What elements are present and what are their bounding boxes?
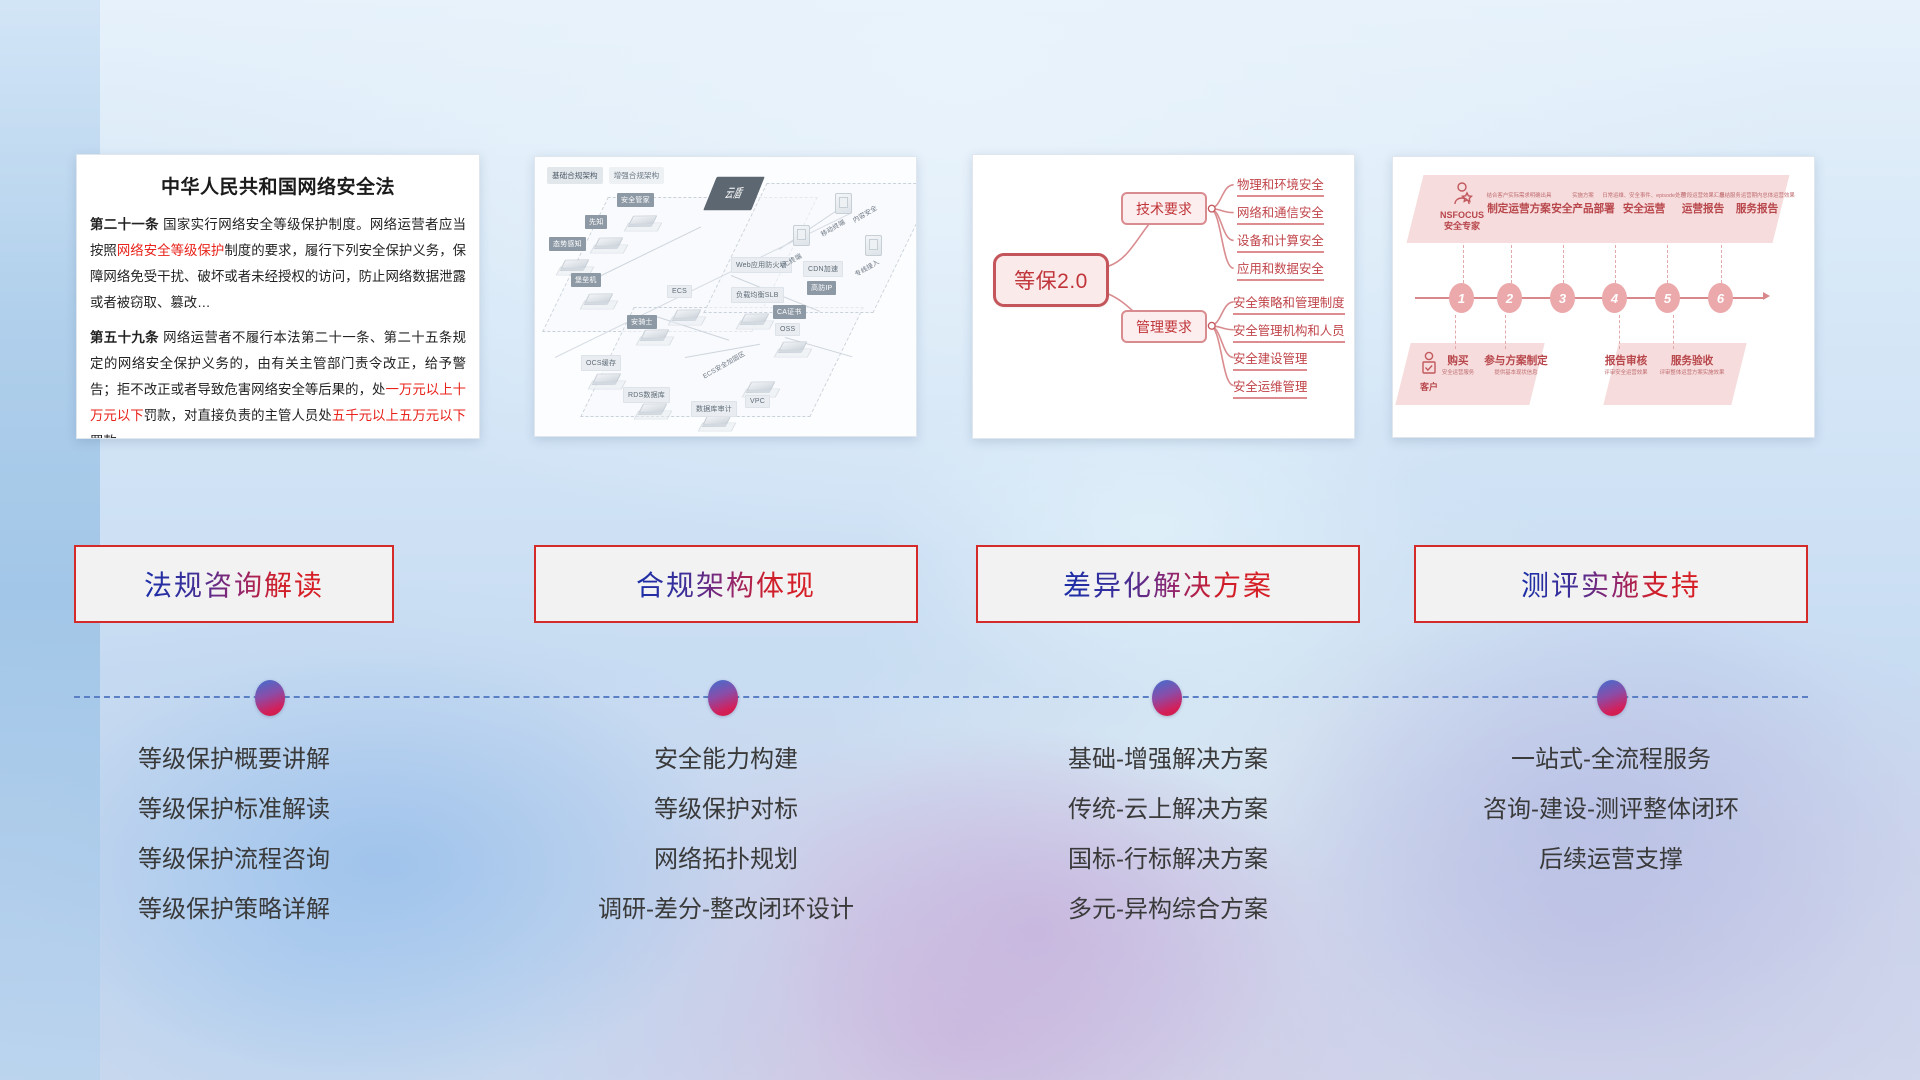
- banner-differentiated-solution-label: 差异化解决方案: [1063, 564, 1273, 604]
- timeline-dot-3: [1152, 680, 1182, 716]
- banner-regulation-consulting-label: 法规咨询解读: [144, 564, 324, 604]
- banner-compliance-architecture[interactable]: 合规架构体现: [534, 545, 918, 623]
- nsfocus-axis-arrow-icon: [1763, 292, 1770, 300]
- nsfocus-role-customer-label: 客户: [1407, 382, 1451, 393]
- law-body: 第二十一条 国家实行网络安全等级保护制度。网络运营者应当按照网络安全等级保护制度…: [77, 212, 479, 439]
- law-article-21-label: 第二十一条: [90, 217, 159, 232]
- banner-differentiated-solution[interactable]: 差异化解决方案: [976, 545, 1360, 623]
- nsfocus-connector-c1: [1455, 315, 1456, 349]
- list-item: 国标-行标解决方案: [976, 835, 1360, 885]
- nsfocus-role-expert-line2: 安全专家: [1427, 221, 1497, 232]
- cards-row: 中华人民共和国网络安全法 第二十一条 国家实行网络安全等级保护制度。网络运营者应…: [0, 150, 1920, 440]
- architecture-tag-bastion-host: 堡垒机: [571, 273, 601, 287]
- card-mindmap-dengbao[interactable]: 等保2.0 技术要求 管理要求 物理和环境安全 网络和通信安全 设备和计算安全 …: [972, 154, 1355, 439]
- list-item: 基础-增强解决方案: [976, 735, 1360, 785]
- mindmap-leaf-application-data: 应用和数据安全: [1237, 259, 1324, 281]
- list-item: 等级保护对标: [534, 785, 918, 835]
- list-regulation-consulting: 等级保护概要讲解 等级保护标准解读 等级保护流程咨询 等级保护策略详解: [74, 735, 394, 935]
- nsfocus-dot-6: 6: [1708, 283, 1733, 313]
- mindmap: 等保2.0 技术要求 管理要求 物理和环境安全 网络和通信安全 设备和计算安全 …: [973, 155, 1354, 438]
- architecture-tag-anqishi: 安骑士: [627, 315, 657, 329]
- architecture-node-xianzhi: [597, 231, 623, 251]
- nsfocus-connector-1: [1463, 245, 1464, 283]
- list-item: 传统-云上解决方案: [976, 785, 1360, 835]
- lists-row: 等级保护概要讲解 等级保护标准解读 等级保护流程咨询 等级保护策略详解 安全能力…: [0, 735, 1920, 955]
- nsfocus-step-6-title: 服务报告: [1705, 201, 1809, 216]
- law-article-21: 第二十一条 国家实行网络安全等级保护制度。网络运营者应当按照网络安全等级保护制度…: [90, 212, 466, 316]
- architecture-node-situation-awareness: [563, 253, 589, 273]
- mindmap-branch-technical: 技术要求: [1121, 192, 1207, 225]
- nsfocus-connector-5: [1667, 245, 1668, 283]
- architecture-node-oss: [781, 335, 807, 355]
- mindmap-leaf-policy-system: 安全策略和管理制度: [1233, 293, 1345, 315]
- architecture-tag-situation-awareness: 态势感知: [549, 237, 586, 251]
- nsfocus-customer-step-2-title: 参与方案制定: [1479, 353, 1553, 368]
- timeline-dashed-line: [74, 696, 1808, 698]
- law-article-59-label: 第五十九条: [90, 330, 159, 345]
- law-article-59-text-3: 罚款。: [90, 434, 130, 439]
- architecture-tag-slb: 负载均衡SLB: [731, 287, 784, 303]
- nsfocus-dot-4: 4: [1602, 283, 1627, 313]
- nsfocus-customer-step-4-sub: 评审整体运营方案实施效果: [1649, 368, 1735, 376]
- list-item: 等级保护概要讲解: [74, 735, 394, 785]
- nsfocus-customer-step-4: 服务验收 评审整体运营方案实施效果: [1649, 353, 1735, 378]
- architecture-node-ecs: [675, 303, 701, 323]
- architecture-tag-security-steward: 安全管家: [617, 193, 654, 207]
- nsfocus-customer-step-2-sub: 提供基本现状信息: [1479, 368, 1553, 376]
- expert-person-icon: [1451, 181, 1473, 205]
- architecture-tag-ca-cert: CA证书: [773, 305, 806, 319]
- nsfocus-connector-c3: [1619, 315, 1620, 349]
- architecture-node-vpc: [749, 375, 775, 395]
- mindmap-root: 等保2.0: [993, 253, 1109, 307]
- nsfocus-customer-step-4-title: 服务验收: [1649, 353, 1735, 368]
- architecture-tag-anti-ddos: 高防IP: [807, 281, 836, 295]
- mindmap-leaf-construction-mgmt: 安全建设管理: [1233, 349, 1307, 371]
- banner-evaluation-support[interactable]: 测评实施支持: [1414, 545, 1808, 623]
- nsfocus-connector-2: [1511, 245, 1512, 283]
- list-item: 调研-差分-整改闭环设计: [534, 885, 918, 935]
- mindmap-leaf-org-personnel: 安全管理机构和人员: [1233, 321, 1345, 343]
- nsfocus-customer-step-2: 参与方案制定 提供基本现状信息: [1479, 353, 1553, 378]
- list-item: 后续运营支撑: [1414, 835, 1808, 885]
- architecture-diagram: 基础合规架构 增强合规架构 云盾 态势感知 先知 安全管: [535, 157, 916, 436]
- banner-row: 法规咨询解读 合规架构体现 差异化解决方案 测评实施支持: [0, 545, 1920, 645]
- architecture-tag-ocs-cache: OCS缓存: [581, 355, 621, 371]
- law-article-59: 第五十九条 网络运营者不履行本法第二十一条、第二十五条规定的网络安全保护义务的，…: [90, 325, 466, 439]
- banner-evaluation-support-label: 测评实施支持: [1521, 564, 1701, 604]
- architecture-terminal-mobile: [835, 193, 852, 214]
- nsfocus-dot-3: 3: [1550, 283, 1575, 313]
- law-article-59-text-2: 罚款，对直接负责的主管人员处: [144, 408, 332, 423]
- list-item: 等级保护标准解读: [74, 785, 394, 835]
- law-article-59-highlight-2: 五千元以上五万元以下: [332, 408, 466, 423]
- list-item: 等级保护流程咨询: [74, 835, 394, 885]
- list-item: 多元-异构综合方案: [976, 885, 1360, 935]
- list-item: 安全能力构建: [534, 735, 918, 785]
- architecture-tag-xianzhi: 先知: [585, 215, 607, 229]
- banner-regulation-consulting[interactable]: 法规咨询解读: [74, 545, 394, 623]
- card-cloud-architecture[interactable]: 基础合规架构 增强合规架构 云盾 态势感知 先知 安全管: [534, 156, 917, 437]
- architecture-tag-ecs: ECS: [667, 285, 692, 298]
- architecture-node-slb: [743, 307, 769, 327]
- card-cybersecurity-law[interactable]: 中华人民共和国网络安全法 第二十一条 国家实行网络安全等级保护制度。网络运营者应…: [76, 154, 480, 439]
- tab-basic-architecture[interactable]: 基础合规架构: [547, 167, 603, 184]
- mindmap-leaf-device-computing: 设备和计算安全: [1237, 231, 1324, 253]
- list-item: 咨询-建设-测评整体闭环: [1414, 785, 1808, 835]
- architecture-node-bastion-host: [587, 287, 613, 307]
- list-compliance-architecture: 安全能力构建 等级保护对标 网络拓扑规划 调研-差分-整改闭环设计: [534, 735, 918, 935]
- timeline-row: [0, 680, 1920, 720]
- list-item: 网络拓扑规划: [534, 835, 918, 885]
- nsfocus-customer-step-1-title: 购买: [1433, 353, 1483, 368]
- mindmap-branch-management: 管理要求: [1121, 310, 1207, 343]
- architecture-tag-vpc: VPC: [745, 395, 770, 408]
- list-evaluation-support: 一站式-全流程服务 咨询-建设-测评整体闭环 后续运营支撑: [1414, 735, 1808, 885]
- mindmap-leaf-operation-mgmt: 安全运维管理: [1233, 377, 1307, 399]
- timeline-dot-4: [1597, 680, 1627, 716]
- nsfocus-dot-5: 5: [1655, 283, 1680, 313]
- law-article-21-highlight: 网络安全等级保护: [117, 243, 224, 258]
- architecture-terminal-leased-line: [865, 235, 882, 256]
- architecture-tag-db-audit: 数据库审计: [691, 401, 737, 417]
- banner-compliance-architecture-label: 合规架构体现: [636, 564, 816, 604]
- list-item: 一站式-全流程服务: [1414, 735, 1808, 785]
- nsfocus-dot-1: 1: [1449, 283, 1474, 313]
- architecture-tag-oss: OSS: [775, 323, 800, 336]
- nsfocus-connector-4: [1615, 245, 1616, 283]
- timeline-dot-1: [255, 680, 285, 716]
- nsfocus-connector-c4: [1673, 315, 1674, 349]
- nsfocus-connector-6: [1721, 245, 1722, 283]
- law-title: 中华人民共和国网络安全法: [77, 172, 479, 199]
- nsfocus-connector-c2: [1505, 315, 1506, 349]
- nsfocus-timeline: NSFOCUS 安全专家 结合客户实际需求明确出具 制定运营方案 实施方案 安全…: [1393, 157, 1814, 437]
- nsfocus-step-6-sub: 总结服务运营期内总体运营效果: [1705, 191, 1809, 199]
- architecture-tag-cdn: CDN加速: [803, 261, 843, 277]
- nsfocus-dot-2: 2: [1497, 283, 1522, 313]
- mindmap-leaf-network-communication: 网络和通信安全: [1237, 203, 1324, 225]
- list-item: 等级保护策略详解: [74, 885, 394, 935]
- architecture-terminal-pc: [793, 225, 810, 246]
- architecture-tag-rds: RDS数据库: [623, 387, 670, 403]
- tab-enhanced-architecture[interactable]: 增强合规架构: [609, 167, 665, 184]
- nsfocus-customer-step-1-sub: 安全运营服务: [1433, 368, 1483, 376]
- nsfocus-step-6: 总结服务运营期内总体运营效果 服务报告: [1705, 191, 1809, 216]
- timeline-dot-2: [708, 680, 738, 716]
- architecture-node-security-steward: [631, 209, 657, 229]
- architecture-tabs[interactable]: 基础合规架构 增强合规架构: [547, 167, 664, 184]
- card-nsfocus-timeline[interactable]: NSFOCUS 安全专家 结合客户实际需求明确出具 制定运营方案 实施方案 安全…: [1392, 156, 1815, 438]
- nsfocus-customer-step-1: 购买 安全运营服务: [1433, 353, 1483, 378]
- nsfocus-connector-3: [1563, 245, 1564, 283]
- mindmap-leaf-physical-environment: 物理和环境安全: [1237, 175, 1324, 197]
- list-differentiated-solution: 基础-增强解决方案 传统-云上解决方案 国标-行标解决方案 多元-异构综合方案: [976, 735, 1360, 935]
